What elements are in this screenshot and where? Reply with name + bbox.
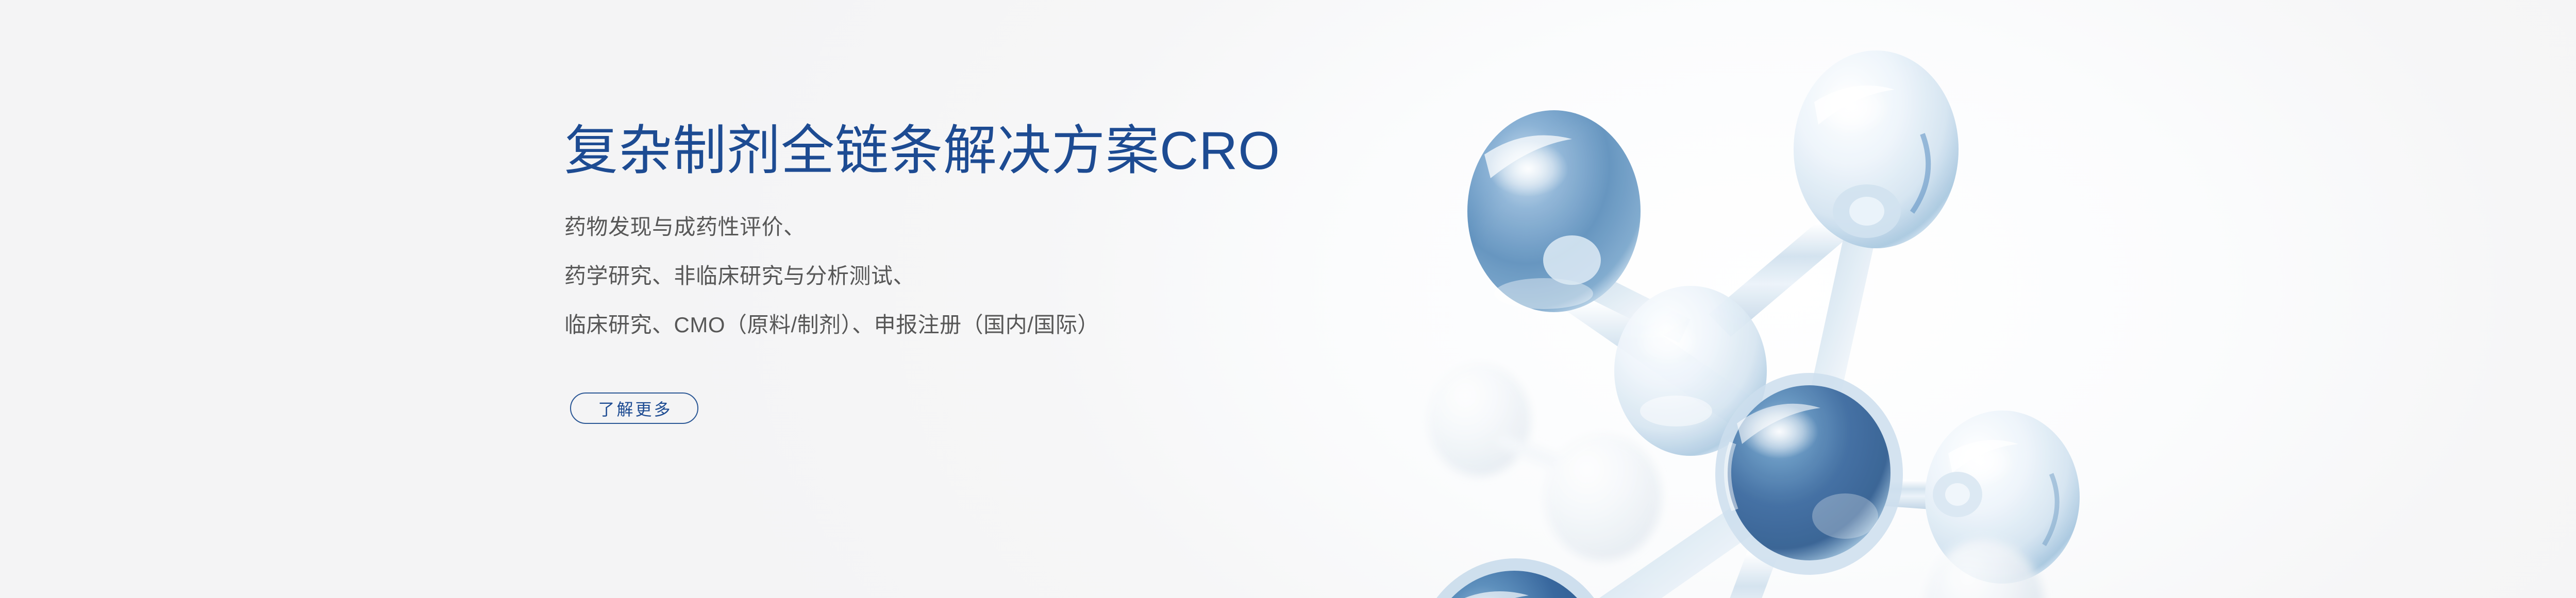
subtitle-line-3: 临床研究、CMO（原料/制剂）、申报注册（国内/国际） [564,300,1441,349]
subtitle-line-1: 药物发现与成药性评价、 [564,202,1441,251]
hero-banner: 复杂制剂全链条解决方案CRO 药物发现与成药性评价、 药学研究、非临床研究与分析… [0,0,2576,598]
page-title: 复杂制剂全链条解决方案CRO [564,119,1441,183]
subtitle-line-2: 药学研究、非临床研究与分析测试、 [564,251,1441,300]
subtitle-list: 药物发现与成药性评价、 药学研究、非临床研究与分析测试、 临床研究、CMO（原料… [564,202,1441,349]
learn-more-button[interactable]: 了解更多 [570,392,698,424]
hero-copy: 复杂制剂全链条解决方案CRO 药物发现与成药性评价、 药学研究、非临床研究与分析… [564,119,1441,349]
